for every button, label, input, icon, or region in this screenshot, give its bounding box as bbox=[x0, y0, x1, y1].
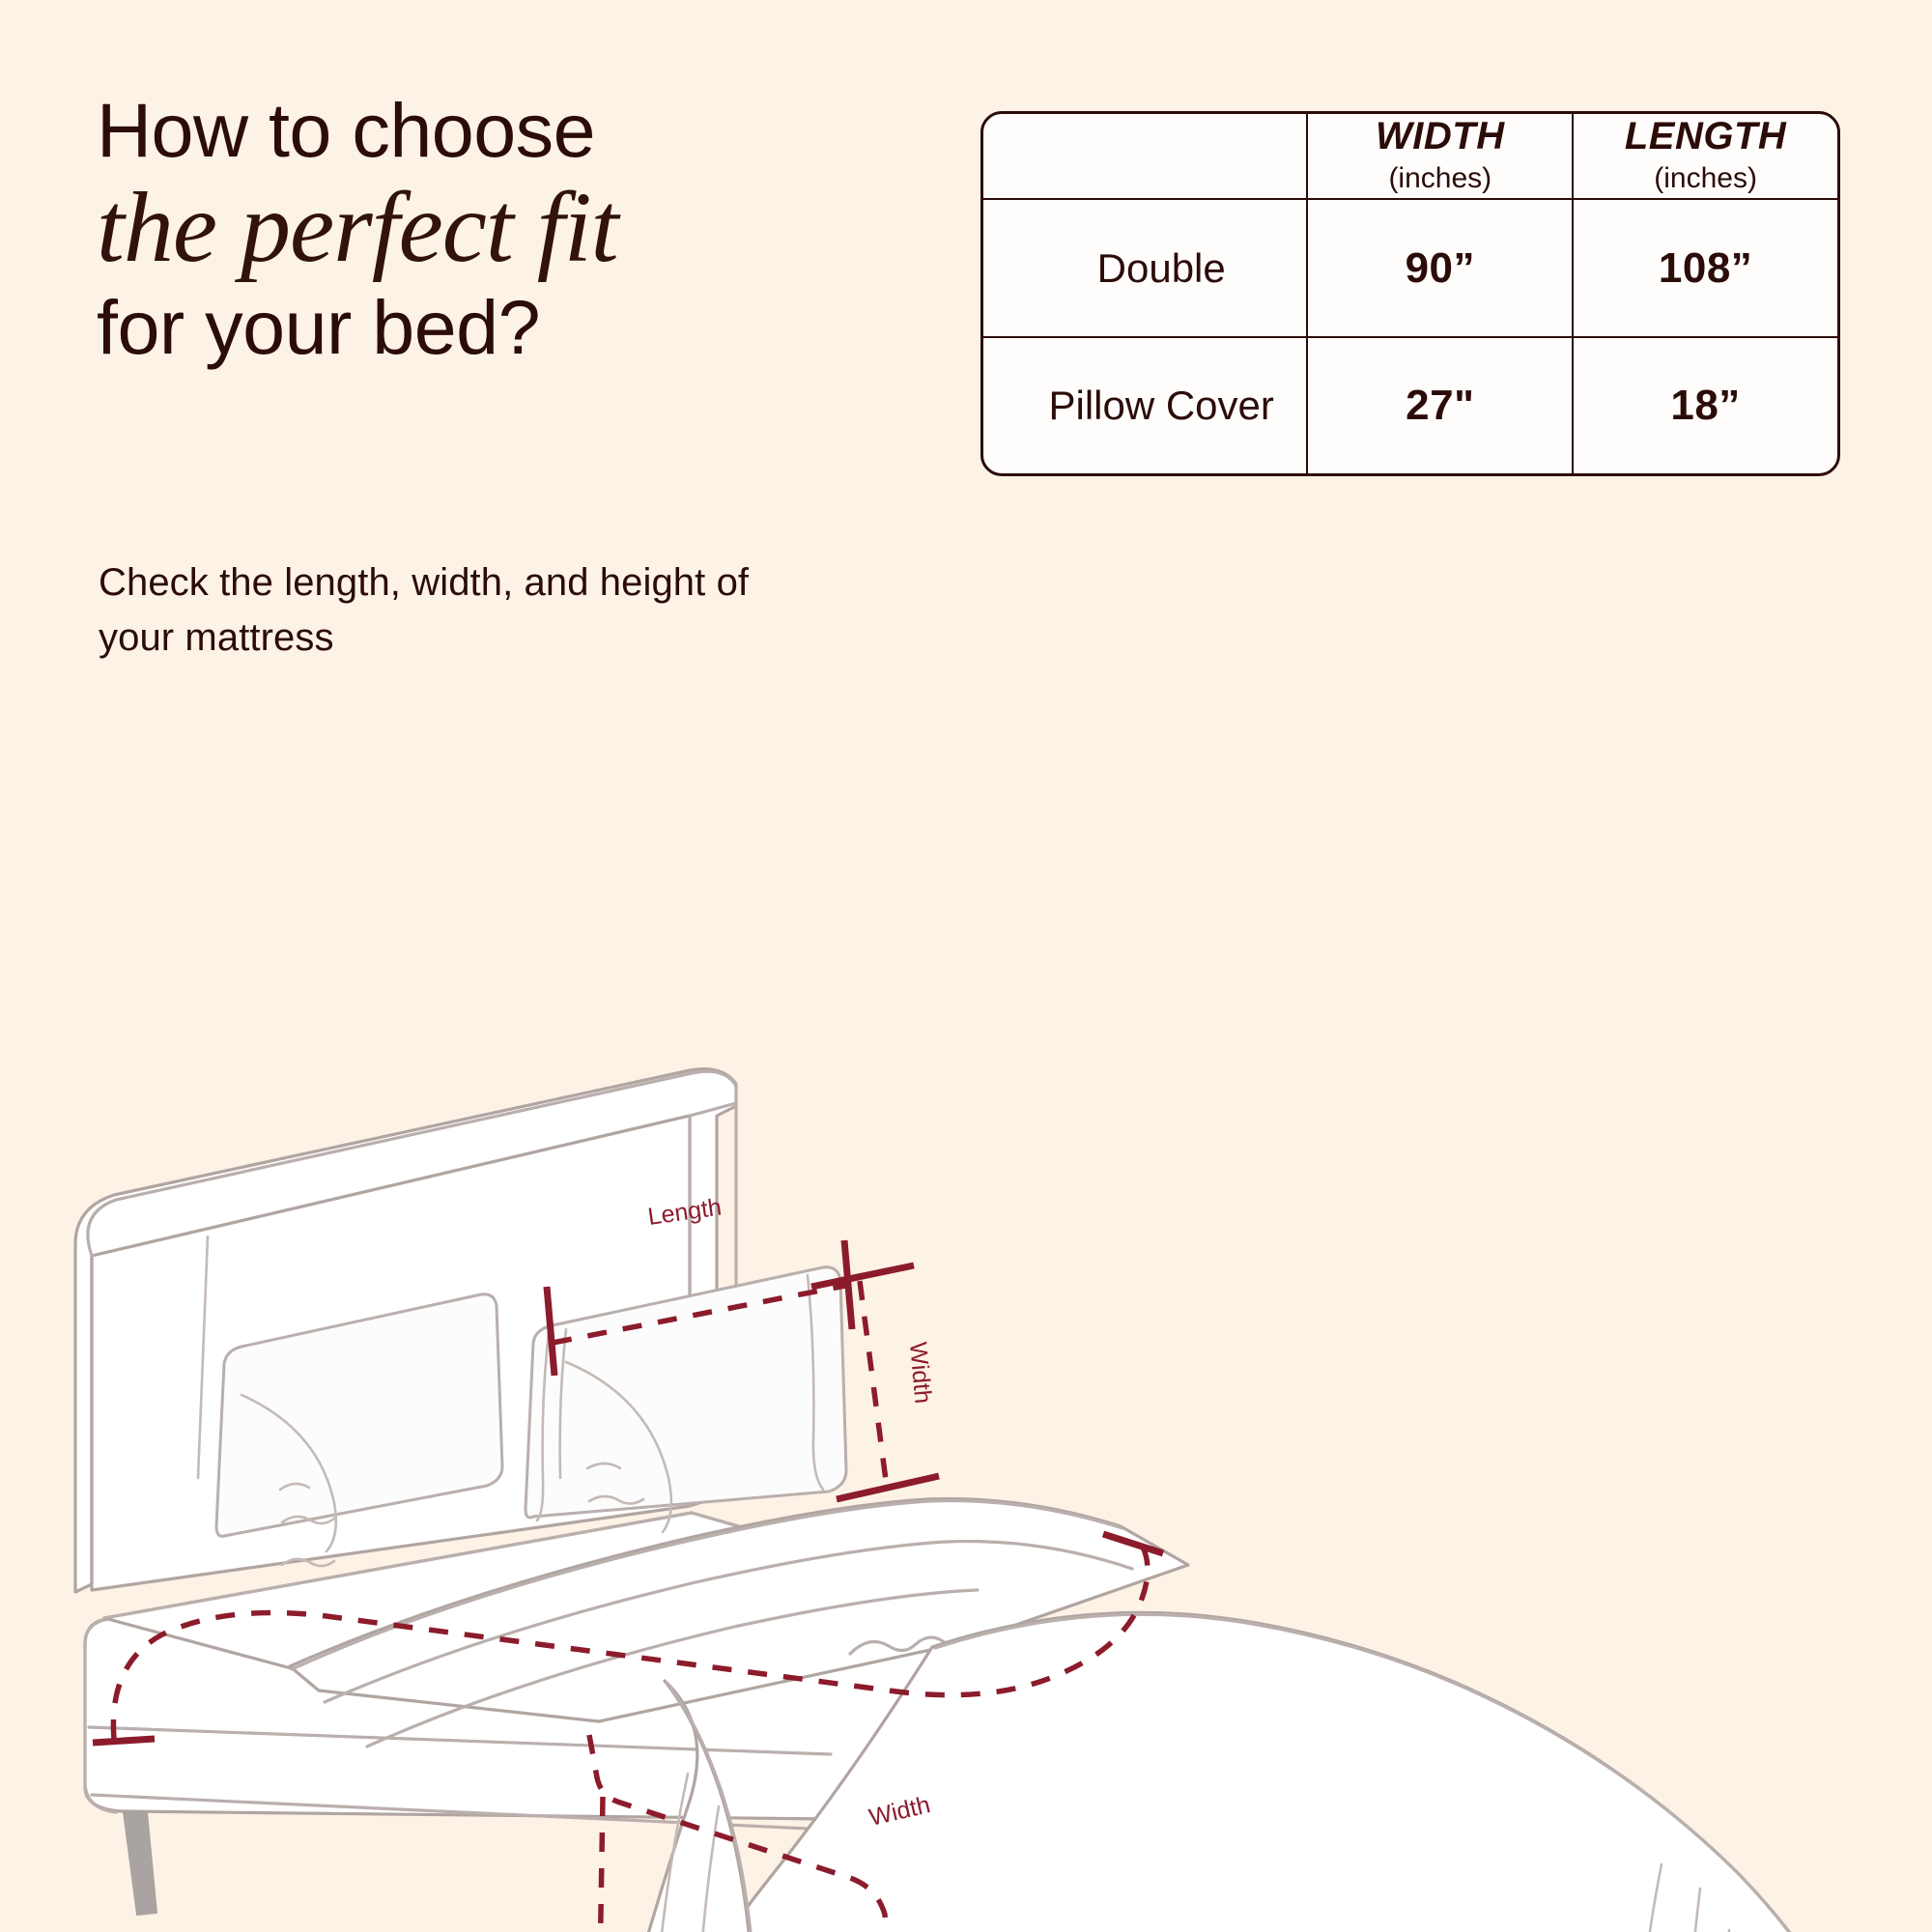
bed-illustration: .ln{fill:none;stroke:#B9AFAC;stroke-widt… bbox=[0, 667, 1932, 1932]
headline-line-3: for your bed? bbox=[97, 286, 927, 369]
size-chart-table: WIDTH (inches) LENGTH (inches) Double 90… bbox=[980, 111, 1840, 476]
header-length-unit: (inches) bbox=[1574, 159, 1837, 198]
header-cell-length: LENGTH (inches) bbox=[1573, 114, 1837, 199]
row-double-length: 108” bbox=[1573, 199, 1837, 337]
row-double-width: 90” bbox=[1307, 199, 1573, 337]
table-header-row: WIDTH (inches) LENGTH (inches) bbox=[983, 114, 1837, 199]
row-pillow-width: 27" bbox=[1307, 337, 1573, 473]
row-name-double: Double bbox=[983, 199, 1307, 337]
dimension-label-pillow-width: Width bbox=[904, 1341, 936, 1405]
table-row: Double 90” 108” bbox=[983, 199, 1837, 337]
poster-canvas: How to choose the perfect fit for your b… bbox=[0, 0, 1932, 1932]
header-width-label: WIDTH bbox=[1308, 114, 1572, 159]
headline-line-1: How to choose bbox=[97, 89, 927, 172]
subtitle-text: Check the length, width, and height of y… bbox=[99, 555, 775, 666]
row-pillow-length: 18” bbox=[1573, 337, 1837, 473]
headline-line-2-italic: the perfect fit bbox=[97, 174, 927, 282]
header-cell-width: WIDTH (inches) bbox=[1307, 114, 1573, 199]
header-cell-blank bbox=[983, 114, 1307, 199]
table-row: Pillow Cover 27" 18” bbox=[983, 337, 1837, 473]
header-length-label: LENGTH bbox=[1574, 114, 1837, 159]
page-title: How to choose the perfect fit for your b… bbox=[97, 89, 927, 369]
header-width-unit: (inches) bbox=[1308, 159, 1572, 198]
row-name-pillow-cover: Pillow Cover bbox=[983, 337, 1307, 473]
